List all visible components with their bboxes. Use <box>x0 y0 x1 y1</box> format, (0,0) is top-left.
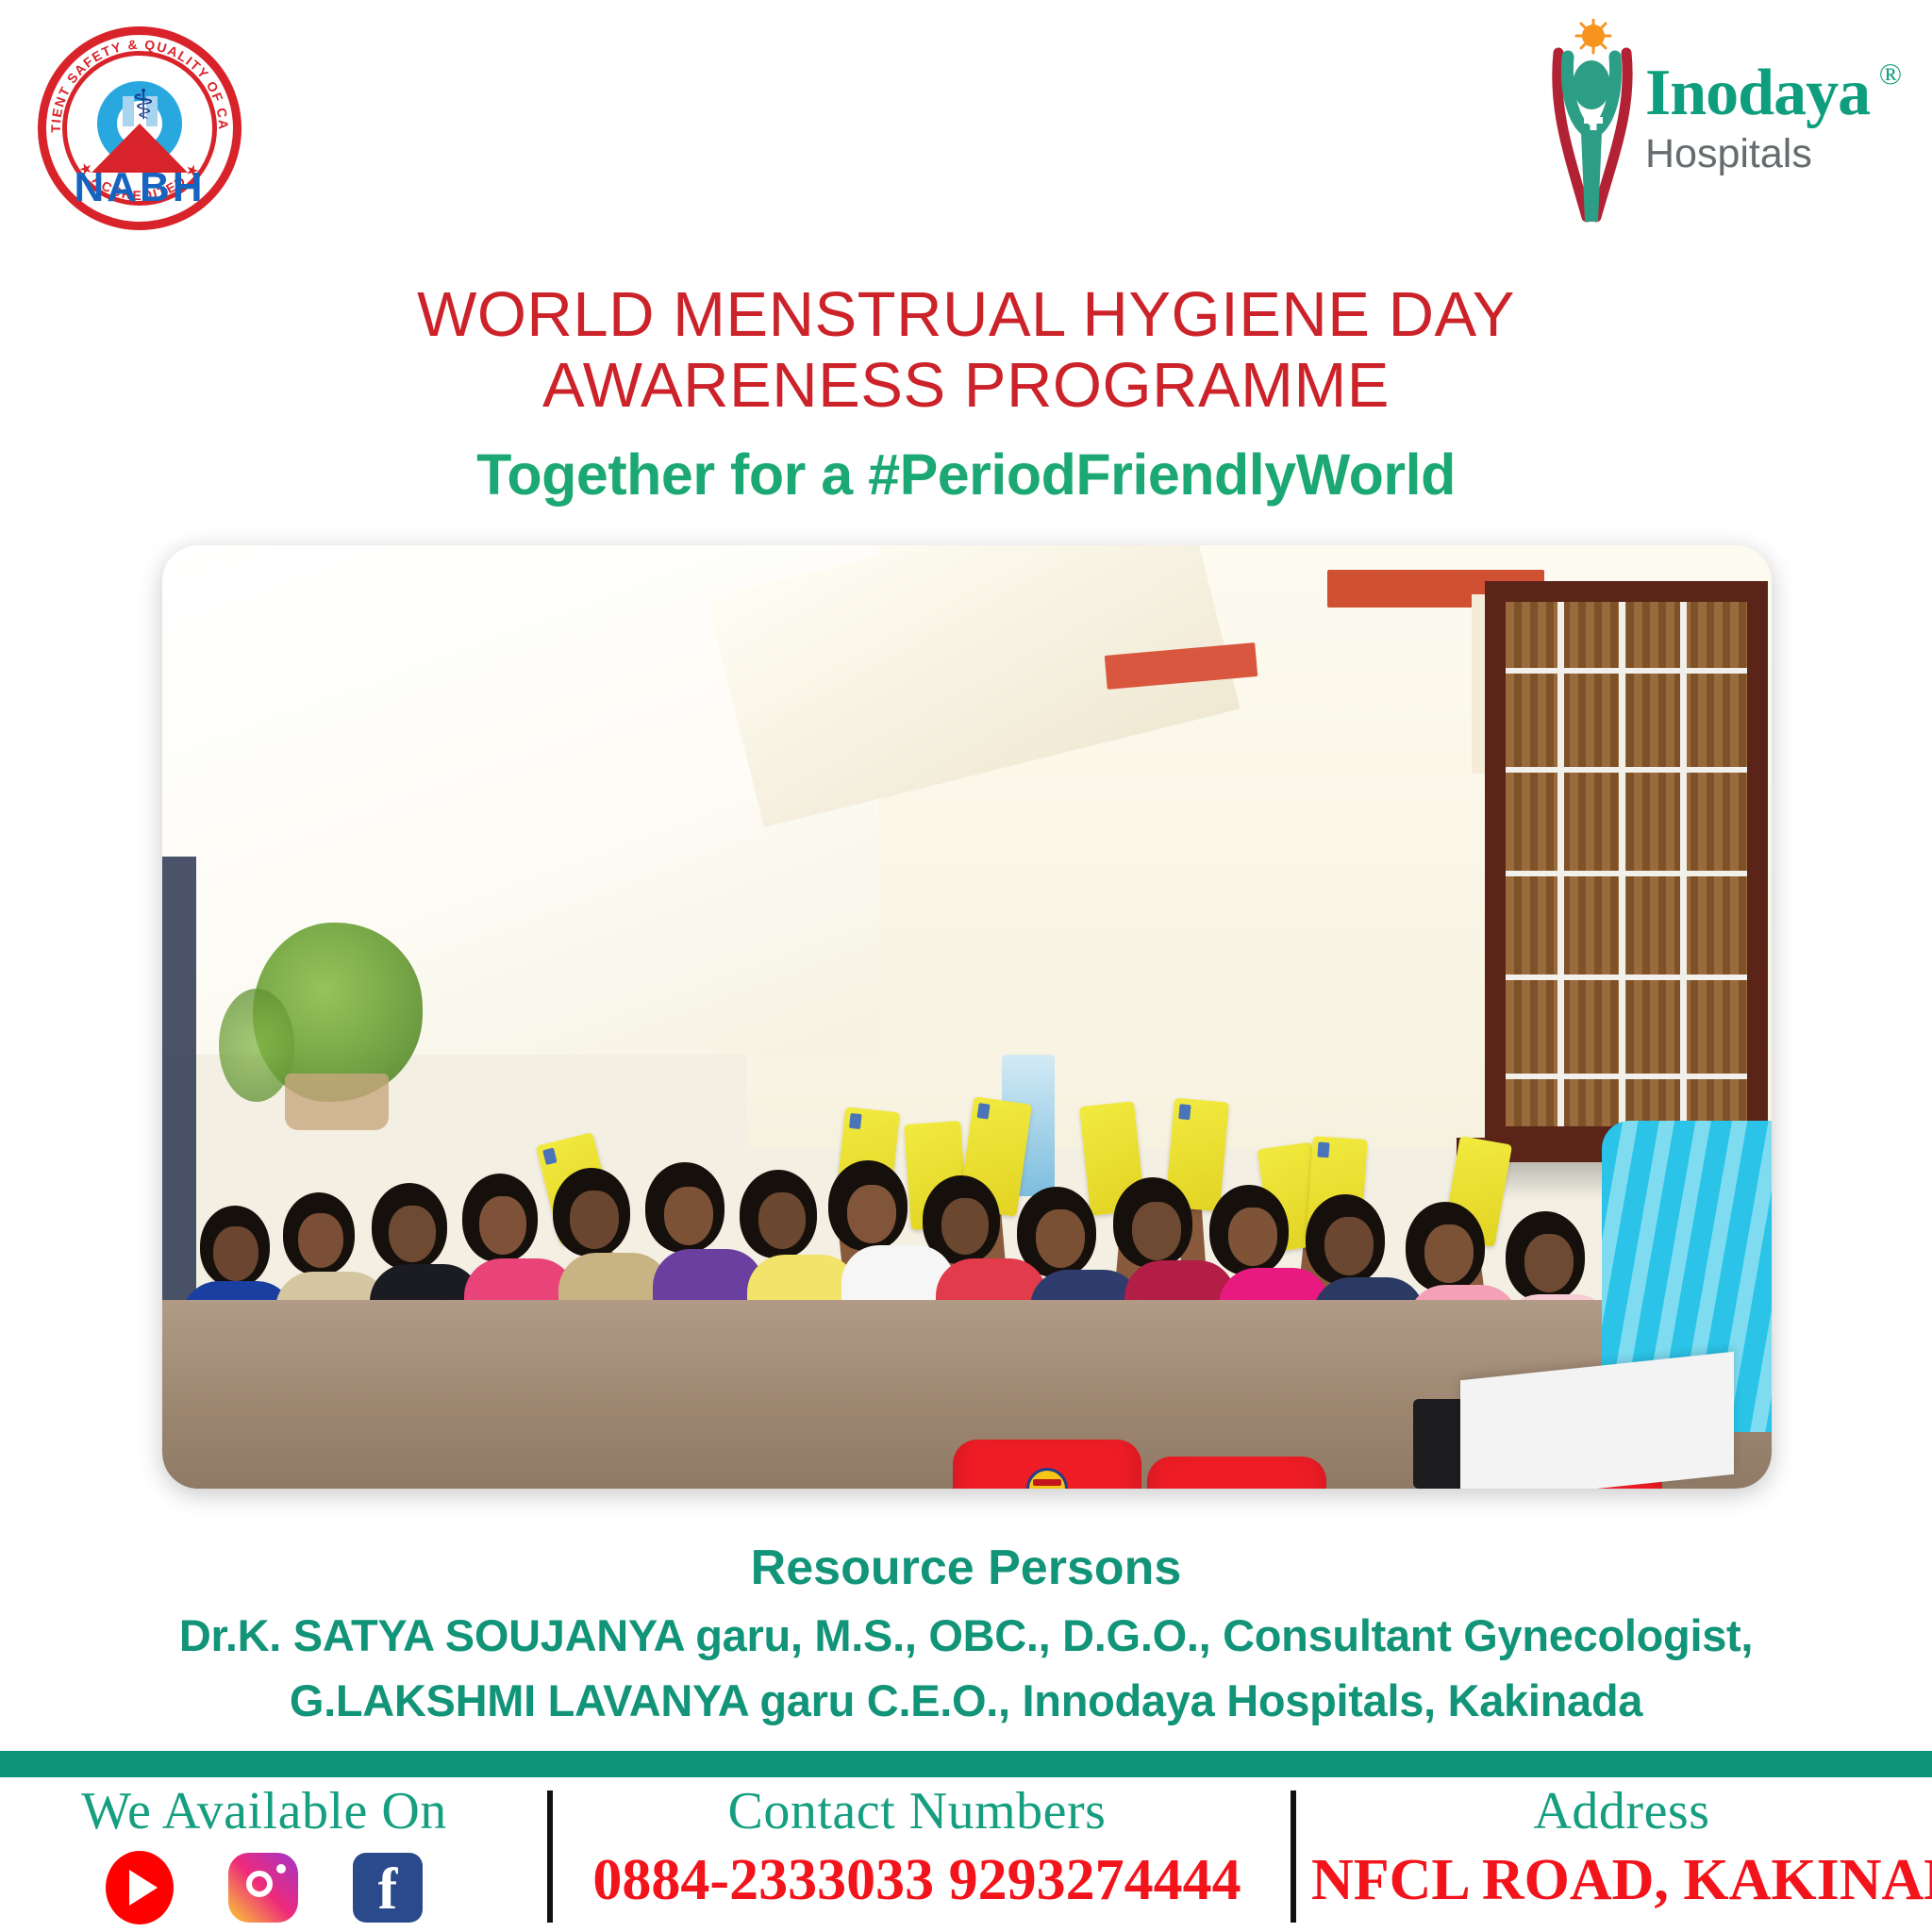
window-grill-bar <box>1506 871 1747 876</box>
event-photo <box>162 545 1772 1489</box>
footer-divider-2 <box>1291 1790 1296 1923</box>
poster-header: PATIENT SAFETY & QUALITY OF CARE ★ ACCRE… <box>0 0 1932 226</box>
registered-trademark-icon: ® <box>1879 57 1902 92</box>
address-value: NFCL ROAD, KAKINADA <box>1311 1847 1932 1914</box>
footer-accent-bar <box>0 1751 1932 1777</box>
nabh-accreditation-seal-icon: PATIENT SAFETY & QUALITY OF CARE ★ ACCRE… <box>38 26 241 230</box>
event-photo-canvas <box>162 545 1772 1489</box>
social-heading: We Available On <box>0 1781 528 1841</box>
page-title: WORLD MENSTRUAL HYGIENE DAY AWARENESS PR… <box>0 279 1932 421</box>
resource-person-2: G.LAKSHMI LAVANYA garu C.E.O., Innodaya … <box>0 1674 1932 1726</box>
contact-column: Contact Numbers 0884-2333033 9293274444 <box>558 1777 1275 1932</box>
address-heading: Address <box>1311 1781 1932 1841</box>
page-title-line-2: AWARENESS PROGRAMME <box>0 350 1932 421</box>
brand-subtitle: Hospitals <box>1645 131 1870 177</box>
page-subtitle: Together for a #PeriodFriendlyWorld <box>0 441 1932 508</box>
chair <box>1147 1457 1326 1489</box>
instagram-icon[interactable] <box>228 1853 298 1923</box>
page-title-line-1: WORLD MENSTRUAL HYGIENE DAY <box>0 279 1932 350</box>
footer-divider-1 <box>547 1790 553 1923</box>
contact-numbers[interactable]: 0884-2333033 9293274444 <box>558 1847 1275 1914</box>
poster-footer: We Available On f Contact Numbers 0884-2… <box>0 1777 1932 1932</box>
facebook-icon[interactable]: f <box>353 1853 423 1923</box>
chair <box>953 1440 1141 1489</box>
window-grill-bar <box>1506 668 1747 674</box>
address-column: Address NFCL ROAD, KAKINADA <box>1311 1777 1932 1932</box>
nabh-wordmark: NABH <box>38 164 241 211</box>
resource-persons-block: Resource Persons Dr.K. SATYA SOUJANYA ga… <box>0 1540 1932 1726</box>
chair-brand-sticker <box>1026 1468 1068 1489</box>
inodaya-figure-icon <box>1540 19 1643 226</box>
social-column: We Available On f <box>0 1777 528 1932</box>
social-icons-row: f <box>0 1851 528 1924</box>
window-grill-bar <box>1506 767 1747 773</box>
youtube-icon[interactable] <box>106 1851 174 1924</box>
resource-person-1: Dr.K. SATYA SOUJANYA garu, M.S., OBC., D… <box>0 1609 1932 1661</box>
brand-name: Inodaya <box>1645 62 1870 125</box>
resource-persons-heading: Resource Persons <box>0 1540 1932 1596</box>
brand-logo: Inodaya ® Hospitals <box>1540 19 1898 226</box>
window-grill-bar <box>1506 974 1747 980</box>
title-block: WORLD MENSTRUAL HYGIENE DAY AWARENESS PR… <box>0 279 1932 508</box>
contact-heading: Contact Numbers <box>558 1781 1275 1841</box>
